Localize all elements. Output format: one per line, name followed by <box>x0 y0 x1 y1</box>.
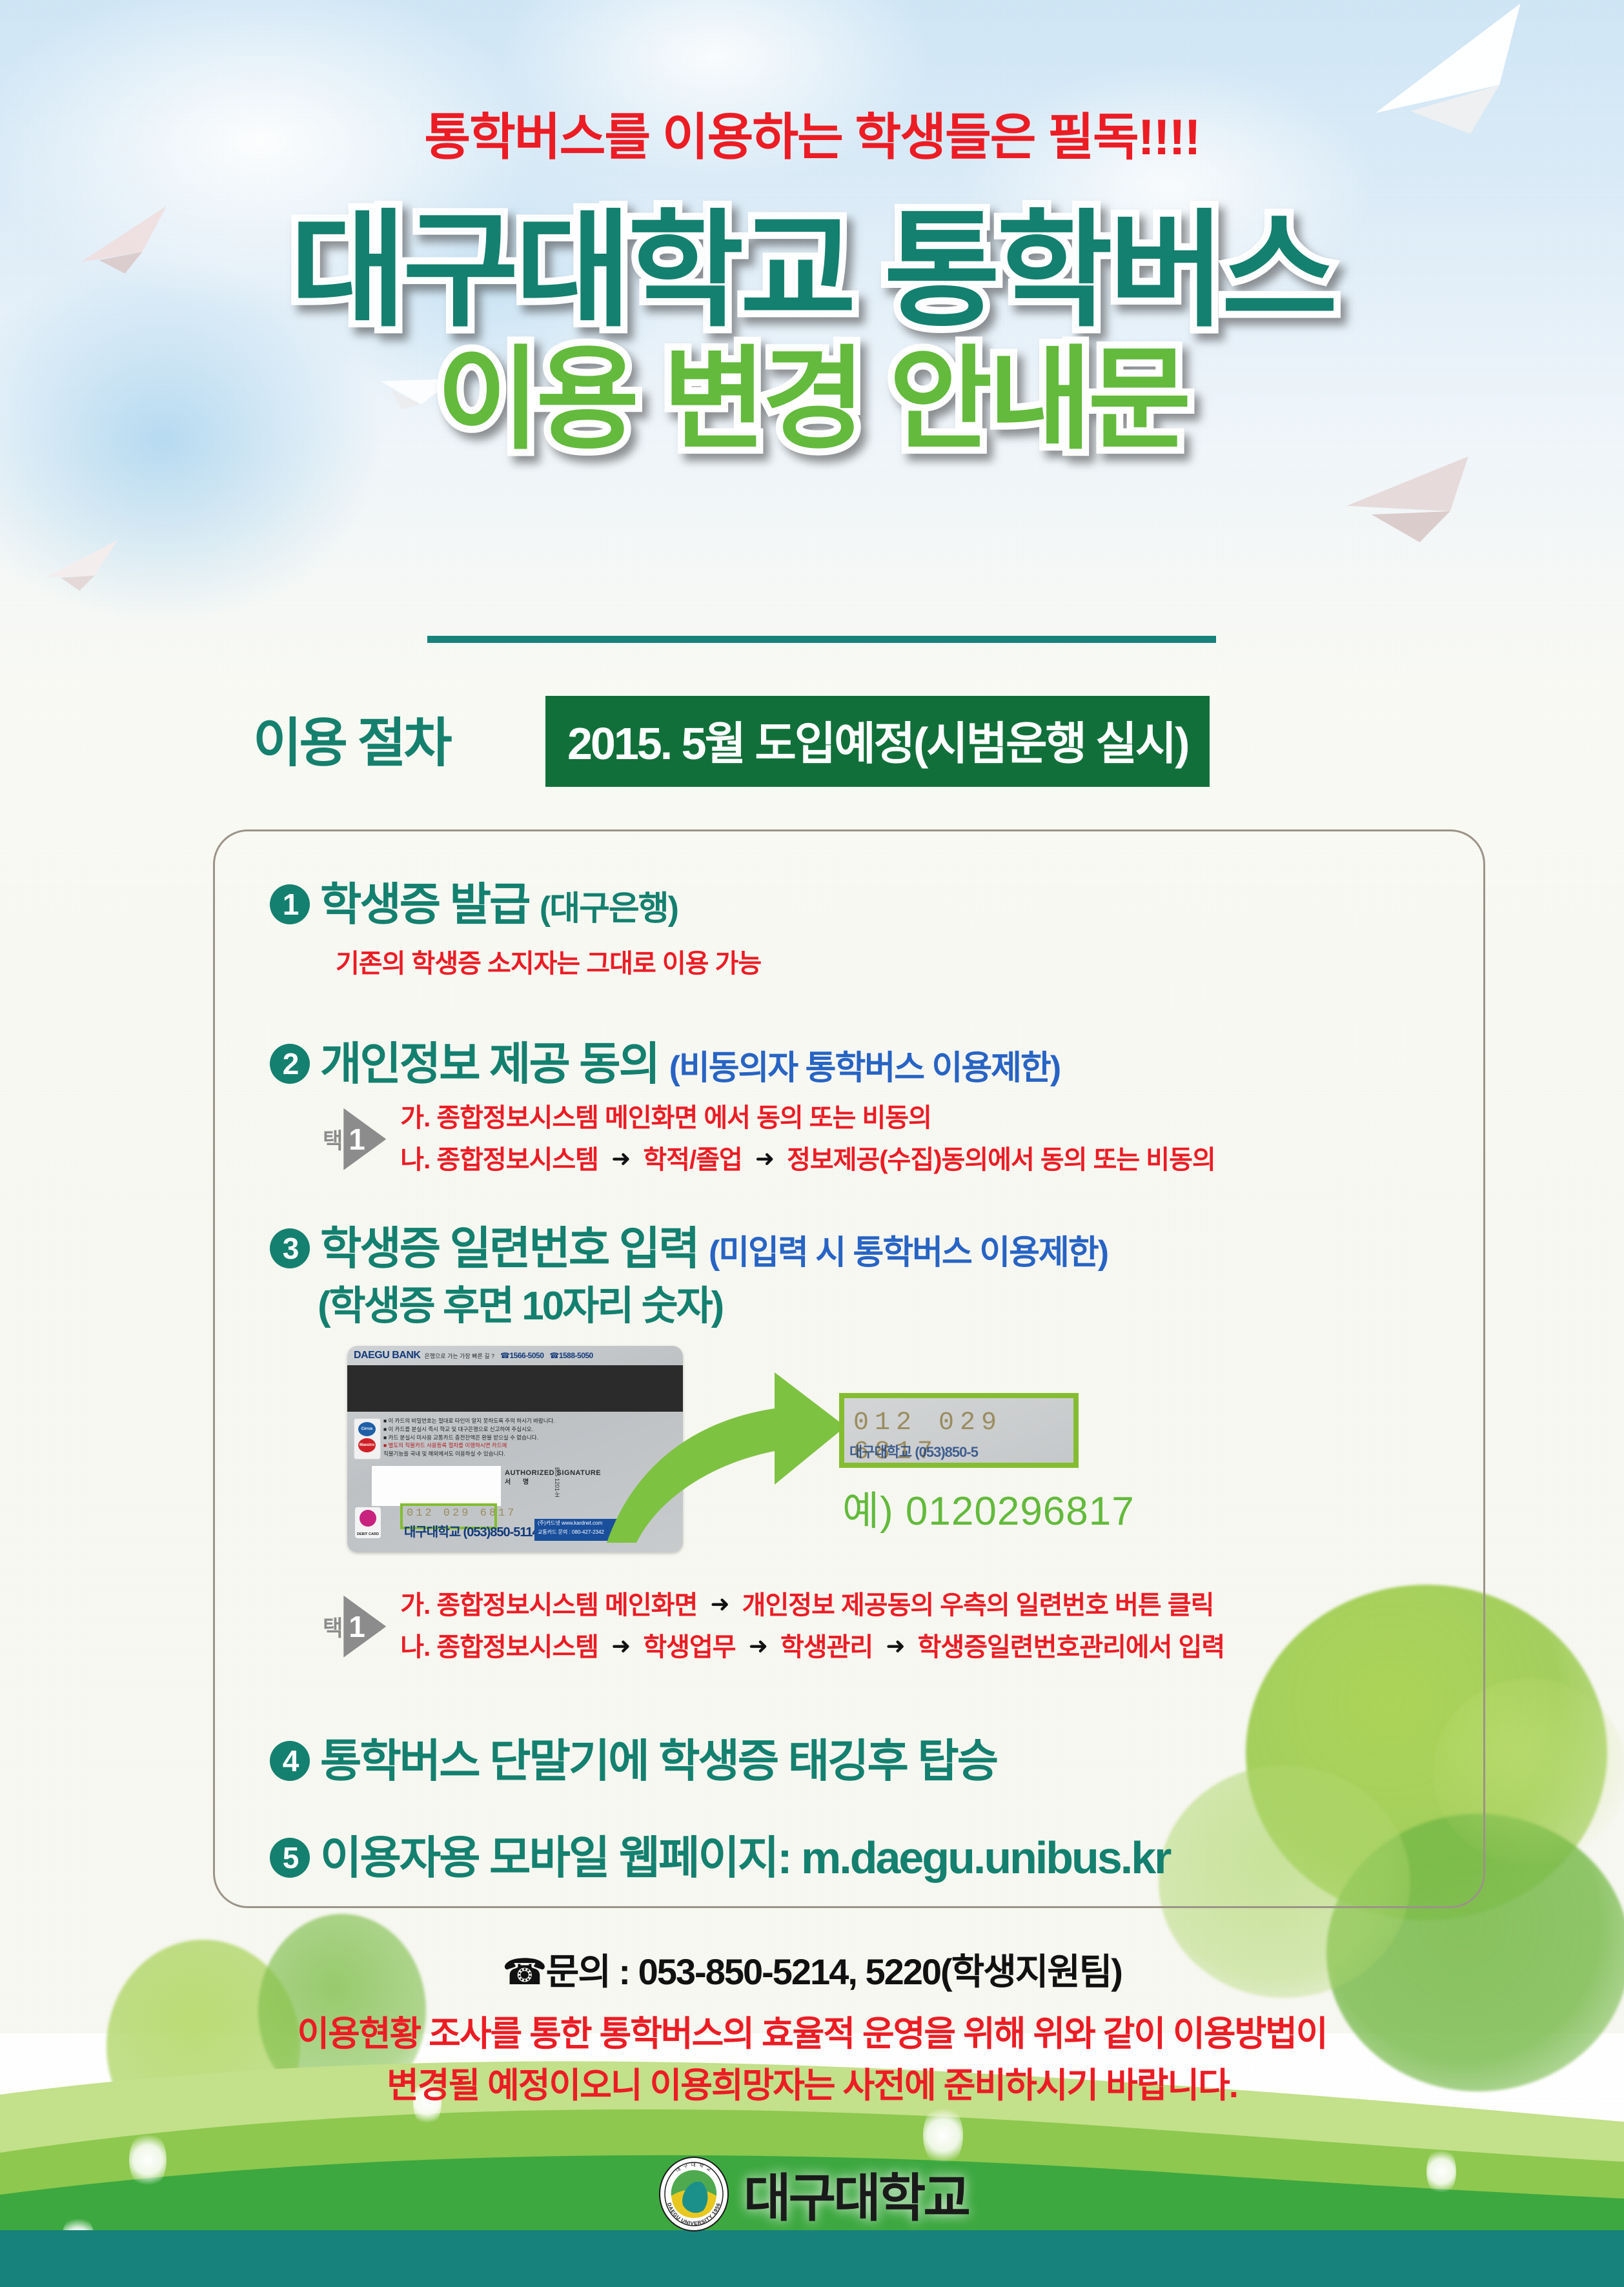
row-part: 학생증일련번호관리에서 입력 <box>918 1633 1225 1662</box>
pick-arrow-icon: 1 <box>343 1596 386 1658</box>
step-3-row-a: 가. 종합정보시스템 메인화면 ➜ 개인정보 제공동의 우측의 일련번호 버튼 … <box>400 1585 1224 1627</box>
step-5-number: 5 <box>270 1838 310 1878</box>
row-part: 정보제공(수집)동의에서 동의 또는 비동의 <box>787 1146 1215 1174</box>
step-3-rows: 가. 종합정보시스템 메인화면 ➜ 개인정보 제공동의 우측의 일련번호 버튼 … <box>400 1585 1224 1669</box>
notice-line-1: 이용현황 조사를 통한 통학버스의 효율적 운영을 위해 위와 같이 이용방법이 <box>0 2009 1624 2060</box>
step-1-title: 학생증 발급 <box>320 879 529 930</box>
row-part: 개인정보 제공동의 우측의 일련번호 버튼 클릭 <box>742 1591 1214 1620</box>
step-3-row-b: 나. 종합정보시스템 ➜ 학생업무 ➜ 학생관리 ➜ 학생증일련번호관리에서 입… <box>400 1627 1224 1669</box>
pick-label: 택 <box>323 1611 342 1642</box>
step-2-rows: 가. 종합정보시스템 메인화면 에서 동의 또는 비동의 나. 종합정보시스템 … <box>400 1097 1215 1181</box>
title-line-2: 이용 변경 안내문 <box>0 342 1624 456</box>
card-bank-name: DAEGU BANK <box>354 1350 420 1361</box>
arrow-icon: ➜ <box>611 1140 630 1177</box>
card-tel-1: ☎1566-5050 <box>500 1351 543 1360</box>
title-divider <box>427 636 1216 643</box>
step-5: 5이용자용 모바일 웹페이지: m.daegu.unibus.kr <box>270 1822 1170 1887</box>
kicker-text: 통학버스를 이용하는 학생들은 필독!!!! <box>0 97 1624 169</box>
card-university-line: 대구대학교 (053)850-5114 <box>404 1521 539 1540</box>
footer-logo-row: 대 구 대 학 교 DAEGU UNIVERSITY 1956 대구대학교 <box>0 2156 1624 2232</box>
step-3-pick-group: 택 1 가. 종합정보시스템 메인화면 ➜ 개인정보 제공동의 우측의 일련번호… <box>323 1585 1224 1669</box>
row-prefix: 나. <box>400 1146 430 1174</box>
arrow-icon: ➜ <box>886 1627 904 1665</box>
step-2-number: 2 <box>270 1044 310 1084</box>
card-term: ■ 별도의 직불카드 사용등록 절차를 이행하시면 카드에 <box>383 1441 577 1450</box>
step-2-title: 개인정보 제공 동의 <box>320 1039 658 1089</box>
title-line-1: 대구대학교 통학버스 <box>0 207 1624 336</box>
row-prefix: 가. <box>400 1591 430 1620</box>
step-5-title: 이용자용 모바일 웹페이지: m.daegu.unibus.kr <box>320 1833 1170 1883</box>
university-name: 대구대학교 <box>744 2157 968 2231</box>
step-3-title: 학생증 일련번호 입력 <box>320 1223 698 1274</box>
cardnet-name: (주)카드넷 <box>538 1520 560 1526</box>
row-prefix: 가. <box>400 1104 430 1132</box>
step-2-row-a: 가. 종합정보시스템 메인화면 에서 동의 또는 비동의 <box>400 1097 1215 1139</box>
arrow-icon: ➜ <box>749 1627 767 1665</box>
arrow-icon: ➜ <box>755 1140 774 1177</box>
row-part: 종합정보시스템 메인화면 <box>436 1591 697 1620</box>
step-1: 1학생증 발급 (대구은행) <box>270 868 678 933</box>
pick-count: 1 <box>349 1122 365 1157</box>
debit-label: DEBIT CARD <box>355 1532 381 1536</box>
step-1-note: 기존의 학생증 소지자는 그대로 이용 가능 <box>336 942 761 980</box>
card-slogan: 은행으로 가는 가장 빠른 길 ? <box>424 1352 494 1360</box>
university-seal-icon: 대 구 대 학 교 DAEGU UNIVERSITY 1956 <box>656 2156 732 2232</box>
serial-example-text: 예) 0120296817 <box>842 1478 1135 1536</box>
arrow-icon: ➜ <box>611 1627 630 1665</box>
step-2-heading: 2개인정보 제공 동의 (비동의자 통학버스 이용제한) <box>270 1039 1060 1089</box>
step-4-number: 4 <box>270 1741 310 1781</box>
step-4-heading: 4통학버스 단말기에 학생증 태깅후 탑승 <box>270 1736 997 1786</box>
step-1-paren: (대구은행) <box>540 890 678 928</box>
zoom-serial-subtext: 대구대학교 (053)850-5 <box>849 1441 978 1461</box>
step-3-heading: 3학생증 일련번호 입력 (미입력 시 통학버스 이용제한) <box>270 1223 1108 1274</box>
card-bis-code: BIS 1201-H <box>554 1467 560 1498</box>
maestro-label: Maestro <box>358 1443 376 1447</box>
step-3-sub: (학생증 후면 10자리 숫자) <box>318 1273 722 1331</box>
step-5-heading: 5이용자용 모바일 웹페이지: m.daegu.unibus.kr <box>270 1833 1170 1883</box>
row-part: 학적/졸업 <box>643 1146 742 1174</box>
row-part: 학생업무 <box>643 1633 735 1662</box>
card-term: ■ 이 카드의 비밀번호는 절대로 타인이 알지 못하도록 주의 하시기 바랍니… <box>383 1417 577 1425</box>
debit-card-logo-icon: DEBIT CARD <box>355 1507 381 1538</box>
row-part: 종합정보시스템 메인화면 에서 동의 또는 비동의 <box>436 1104 931 1132</box>
row-part: 종합정보시스템 <box>436 1146 598 1174</box>
step-2-row-b: 나. 종합정보시스템 ➜ 학적/졸업 ➜ 정보제공(수집)동의에서 동의 또는 … <box>400 1139 1215 1181</box>
contact-line: ☎문의 : 053-850-5214, 5220(학생지원팀) <box>0 1943 1624 1995</box>
step-3-paren: (미입력 시 통학버스 이용제한) <box>709 1234 1108 1272</box>
pick-arrow-icon: 1 <box>343 1108 386 1170</box>
card-term: ■ 이 카드를 분실시 즉시 학교 및 대구은행으로 신고하여 주십시오. <box>383 1425 577 1434</box>
step-1-heading: 1학생증 발급 (대구은행) <box>270 879 678 930</box>
cirrus-maestro-logo-icon: Cirrus Maestro <box>354 1418 381 1459</box>
card-term: ■ 카드 분실시 미사용 교통카드 충전잔액은 환불 받으실 수 없습니다. <box>383 1434 577 1442</box>
step-2: 2개인정보 제공 동의 (비동의자 통학버스 이용제한) <box>270 1028 1060 1093</box>
notice-block: 이용현황 조사를 통한 통학버스의 효율적 운영을 위해 위와 같이 이용방법이… <box>0 2009 1624 2112</box>
procedure-banner-text: 2015. 5월 도입예정(시범운행 실시) <box>567 718 1188 769</box>
step-4: 4통학버스 단말기에 학생증 태깅후 탑승 <box>270 1725 997 1790</box>
procedure-label: 이용 절차 <box>253 700 450 777</box>
card-terms-text: ■ 이 카드의 비밀번호는 절대로 타인이 알지 못하도록 주의 하시기 바랍니… <box>383 1417 577 1458</box>
step-3: 3학생증 일련번호 입력 (미입력 시 통학버스 이용제한) <box>270 1212 1108 1277</box>
pick-label: 택 <box>323 1123 342 1155</box>
arrow-icon: ➜ <box>710 1585 729 1623</box>
notice-line-2: 변경될 예정이오니 이용희망자는 사전에 준비하시기 바랍니다. <box>0 2060 1624 2112</box>
step-2-paren: (비동의자 통학버스 이용제한) <box>669 1050 1061 1087</box>
step-3-number: 3 <box>270 1228 310 1268</box>
step-2-pick-group: 택 1 가. 종합정보시스템 메인화면 에서 동의 또는 비동의 나. 종합정보… <box>323 1097 1215 1181</box>
footer-bar <box>0 2230 1624 2287</box>
row-prefix: 나. <box>400 1633 430 1662</box>
serial-zoom-callout: 012 029 6817 대구대학교 (053)850-5 <box>839 1393 1079 1468</box>
green-curved-arrow-icon <box>581 1349 865 1562</box>
row-part: 종합정보시스템 <box>436 1633 598 1662</box>
poster-root: 통학버스를 이용하는 학생들은 필독!!!! 대구대학교 통학버스 이용 변경 … <box>0 0 1624 2287</box>
poster-title: 대구대학교 통학버스 이용 변경 안내문 <box>0 207 1624 456</box>
cirrus-label: Cirrus <box>358 1427 376 1431</box>
step-4-title: 통학버스 단말기에 학생증 태깅후 탑승 <box>320 1736 997 1786</box>
card-signature-box <box>372 1466 501 1506</box>
procedure-banner: 2015. 5월 도입예정(시범운행 실시) <box>545 696 1210 787</box>
step-1-number: 1 <box>270 884 310 924</box>
pick-count: 1 <box>349 1609 365 1644</box>
card-term: 직불기능을 국내 및 해외에서도 이용하실 수 있습니다. <box>383 1450 577 1458</box>
row-part: 학생관리 <box>780 1633 873 1662</box>
